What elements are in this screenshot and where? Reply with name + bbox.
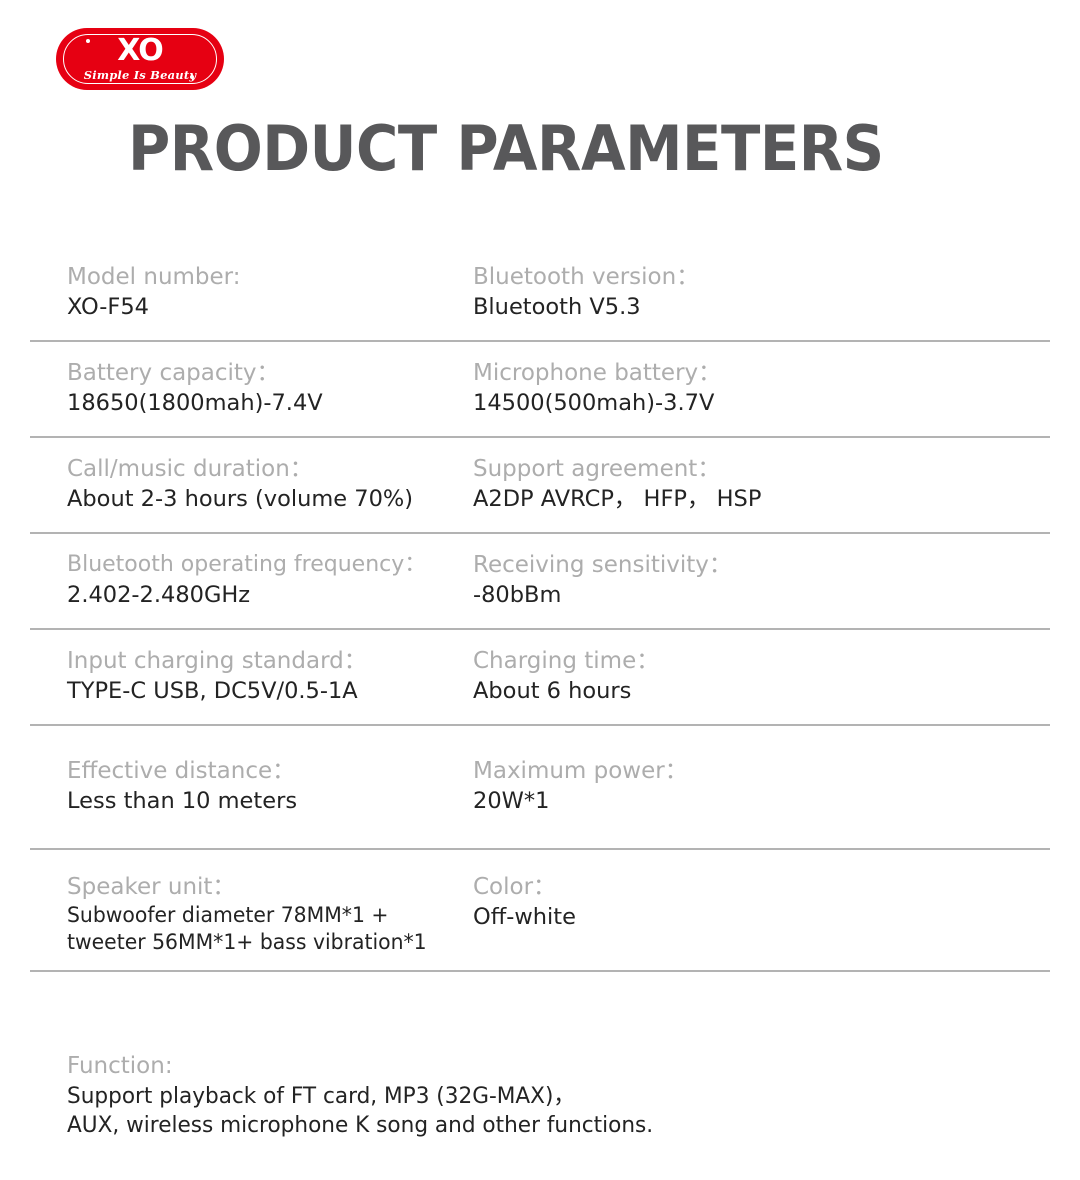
table-row: Call/music duration： About 2-3 hours (vo…: [0, 438, 1080, 532]
table-row: Input charging standard： TYPE-C USB, DC5…: [0, 630, 1080, 724]
logo-tagline: Simple Is Beauty: [56, 69, 224, 81]
logo-wordmark: XO: [56, 35, 224, 67]
spec-value: Subwoofer diameter 78MM*1 + tweeter 56MM…: [67, 902, 461, 956]
spec-value: A2DP AVRCP， HFP， HSP: [473, 484, 993, 514]
spec-value: 2.402-2.480GHz: [67, 580, 473, 610]
spec-cell-speaker-unit: Speaker unit： Subwoofer diameter 78MM*1 …: [30, 872, 473, 956]
spec-label: Support agreement：: [473, 454, 993, 484]
spec-cell-microphone-battery: Microphone battery： 14500(500mah)-3.7V: [473, 358, 993, 418]
spec-label: Color：: [473, 872, 993, 902]
page-title: PRODUCT PARAMETERS: [128, 112, 884, 186]
spec-cell-charging-time: Charging time： About 6 hours: [473, 646, 993, 706]
spec-value: 20W*1: [473, 786, 993, 816]
spec-label: Model number:: [67, 262, 473, 292]
spec-value: TYPE-C USB, DC5V/0.5-1A: [67, 676, 473, 706]
table-row: Speaker unit： Subwoofer diameter 78MM*1 …: [0, 854, 1080, 970]
spec-label: Bluetooth version：: [473, 262, 993, 292]
spec-cell-support-agreement: Support agreement： A2DP AVRCP， HFP， HSP: [473, 454, 993, 514]
spec-label: Bluetooth operating frequency：: [67, 550, 473, 580]
spec-label: Receiving sensitivity：: [473, 550, 993, 580]
spec-value: Less than 10 meters: [67, 786, 473, 816]
table-row: Battery capacity： 18650(1800mah)-7.4V Mi…: [0, 342, 1080, 436]
table-row: Bluetooth operating frequency： 2.402-2.4…: [0, 534, 1080, 628]
spec-value: 18650(1800mah)-7.4V: [67, 388, 473, 418]
spec-cell-effective-distance: Effective distance： Less than 10 meters: [30, 756, 473, 816]
spec-cell-bluetooth-version: Bluetooth version： Bluetooth V5.3: [473, 262, 993, 322]
spec-label: Microphone battery：: [473, 358, 993, 388]
spec-cell-bluetooth-frequency: Bluetooth operating frequency： 2.402-2.4…: [30, 550, 473, 610]
spec-value: Support playback of FT card, MP3 (32G-MA…: [67, 1082, 1011, 1140]
spec-value: -80bBm: [473, 580, 993, 610]
spec-value: Off-white: [473, 902, 993, 932]
spec-cell-battery-capacity: Battery capacity： 18650(1800mah)-7.4V: [30, 358, 473, 418]
spec-label: Effective distance：: [67, 756, 473, 786]
spec-label: Speaker unit：: [67, 872, 473, 902]
spec-label: Input charging standard：: [67, 646, 473, 676]
spec-label: Battery capacity：: [67, 358, 473, 388]
spec-cell-receiving-sensitivity: Receiving sensitivity： -80bBm: [473, 550, 993, 610]
spec-cell-function: Function: Support playback of FT card, M…: [0, 1050, 1080, 1140]
row-divider: [30, 970, 1050, 972]
spec-cell-model-number: Model number: XO-F54: [30, 262, 473, 322]
spec-cell-color: Color： Off-white: [473, 872, 993, 956]
spec-value: About 6 hours: [473, 676, 993, 706]
spec-value: Bluetooth V5.3: [473, 292, 993, 322]
spec-label: Maximum power：: [473, 756, 993, 786]
row-divider: [30, 848, 1050, 850]
spec-label: Call/music duration：: [67, 454, 473, 484]
spec-value: XO-F54: [67, 292, 473, 322]
spec-value: About 2-3 hours (volume 70%): [67, 484, 473, 514]
brand-logo: XO Simple Is Beauty: [56, 28, 224, 90]
spec-cell-call-music-duration: Call/music duration： About 2-3 hours (vo…: [30, 454, 473, 514]
spec-label: Function:: [67, 1050, 1050, 1082]
table-row: Model number: XO-F54 Bluetooth version： …: [0, 246, 1080, 340]
spec-table: Model number: XO-F54 Bluetooth version： …: [0, 246, 1080, 972]
table-row: Effective distance： Less than 10 meters …: [0, 726, 1080, 848]
spec-label: Charging time：: [473, 646, 993, 676]
spec-value: 14500(500mah)-3.7V: [473, 388, 993, 418]
spec-cell-maximum-power: Maximum power： 20W*1: [473, 756, 993, 816]
spec-cell-input-charging-standard: Input charging standard： TYPE-C USB, DC5…: [30, 646, 473, 706]
